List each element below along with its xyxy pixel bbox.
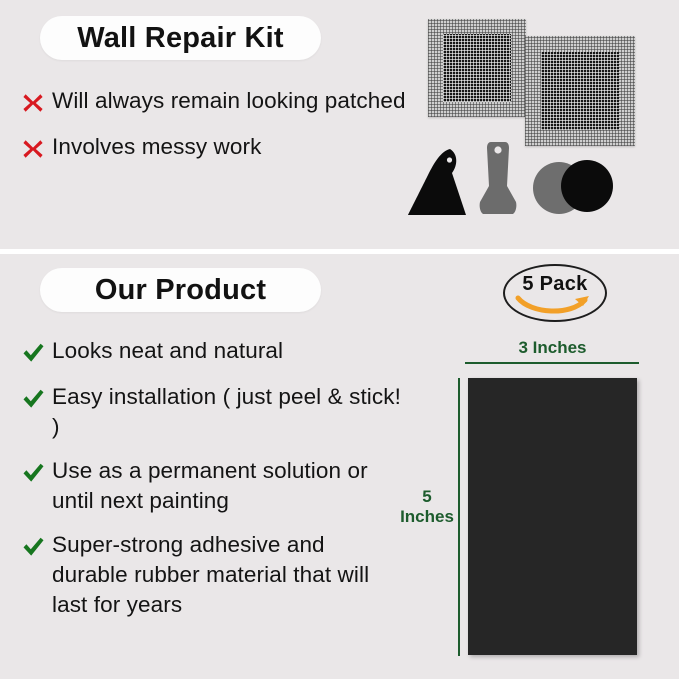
width-dimension-label: 3 Inches (465, 338, 640, 358)
cross-icon (14, 132, 52, 164)
height-dimension-label: 5 Inches (396, 487, 458, 527)
triangle-scraper-icon (406, 145, 468, 217)
list-item: Involves messy work (14, 132, 406, 164)
bottom-panel-heading-text: Our Product (95, 274, 266, 307)
mesh-patch-core (541, 52, 619, 130)
height-dimension-value: 5 (396, 487, 458, 507)
list-item: Use as a permanent solution or until nex… (14, 456, 406, 516)
check-icon (14, 456, 52, 488)
list-item: Easy installation ( just peel & stick! ) (14, 382, 406, 442)
top-panel-bullet-list: Will always remain looking patched Invol… (14, 86, 406, 178)
width-dimension-line (465, 362, 639, 364)
check-icon (14, 530, 52, 562)
list-item-text: Involves messy work (52, 132, 261, 161)
list-item-text: Super-strong adhesive and durable rubber… (52, 530, 406, 620)
mesh-patch-large (525, 36, 635, 146)
pack-count-badge: 5 Pack (503, 264, 607, 322)
mesh-patch-core (443, 34, 511, 102)
top-panel-heading-text: Wall Repair Kit (77, 22, 284, 55)
check-icon (14, 382, 52, 414)
sanding-disc-black (561, 160, 613, 212)
list-item: Super-strong adhesive and durable rubber… (14, 530, 406, 620)
list-item-text: Will always remain looking patched (52, 86, 406, 115)
height-dimension-unit: Inches (396, 507, 458, 527)
bottom-panel-heading-pill: Our Product (40, 268, 321, 312)
mesh-patch-small (428, 19, 526, 117)
bottom-panel-bullet-list: Looks neat and natural Easy installation… (14, 336, 406, 634)
height-dimension-line (458, 378, 460, 656)
check-icon (14, 336, 52, 368)
sanding-disc-group (533, 160, 613, 218)
product-patch-image (468, 378, 637, 655)
badge-label: 5 Pack (503, 273, 607, 296)
top-panel-heading-pill: Wall Repair Kit (40, 16, 321, 60)
list-item: Will always remain looking patched (14, 86, 406, 118)
amazon-smile-arrow-icon (515, 294, 595, 316)
list-item-text: Looks neat and natural (52, 336, 283, 365)
list-item: Looks neat and natural (14, 336, 406, 368)
cross-icon (14, 86, 52, 118)
wall-repair-kit-photo (400, 0, 679, 249)
list-item-text: Easy installation ( just peel & stick! ) (52, 382, 406, 442)
product-comparison-infographic: Wall Repair Kit Will always remain looki… (0, 0, 679, 679)
putty-knife-icon (478, 140, 518, 218)
list-item-text: Use as a permanent solution or until nex… (52, 456, 406, 516)
